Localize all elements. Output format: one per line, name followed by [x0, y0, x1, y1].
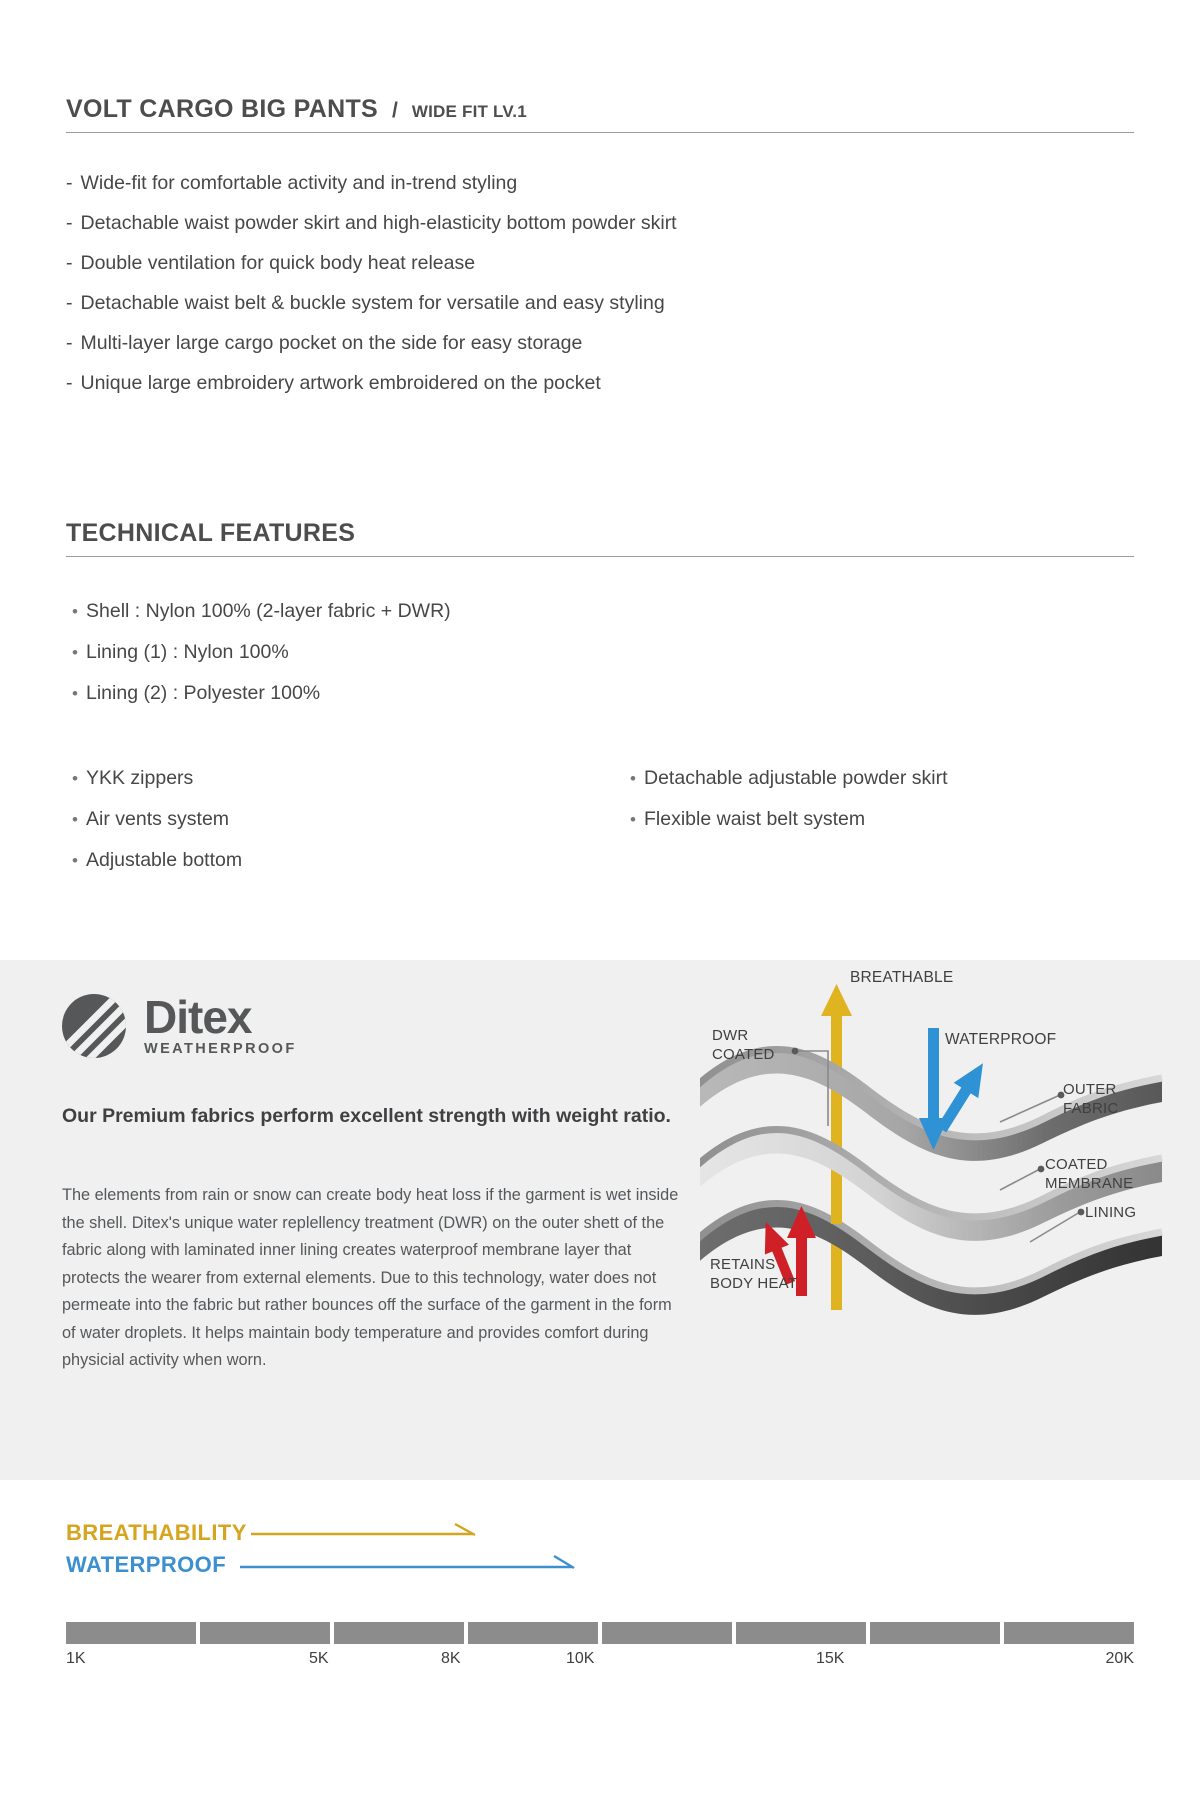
list-item: -Detachable waist belt & buckle system f…	[66, 283, 677, 323]
bullet-dot: •	[72, 800, 86, 840]
list-item: •Flexible waist belt system	[630, 799, 948, 840]
bullet-dot: •	[72, 759, 86, 799]
tick-label: 5K	[309, 1650, 329, 1668]
dash-bullet: -	[66, 212, 73, 234]
tech-feature-text: Air vents system	[86, 808, 229, 830]
ditex-logo: Ditex WEATHERPROOF	[62, 994, 297, 1058]
label-dwr-coated: DWR COATED	[712, 1026, 775, 1064]
product-feature-list: -Wide-fit for comfortable activity and i…	[66, 163, 677, 403]
feature-text: Detachable waist powder skirt and high-e…	[81, 212, 677, 234]
breathability-label: BREATHABILITY	[66, 1520, 247, 1546]
scale-bar	[66, 1622, 1134, 1644]
bullet-dot: •	[630, 759, 644, 799]
ditex-brand-name: Ditex	[144, 995, 297, 1039]
page-title: VOLT CARGO BIG PANTS	[66, 95, 378, 124]
scale-segment	[1004, 1622, 1134, 1644]
scale-tick-labels: 1K 5K 8K 10K 15K 20K	[66, 1650, 1134, 1674]
scale-segment	[870, 1622, 1000, 1644]
bullet-dot: •	[72, 841, 86, 881]
tech-features-right-column: •Detachable adjustable powder skirt •Fle…	[630, 758, 948, 840]
tick-label: 10K	[566, 1650, 594, 1668]
feature-text: Detachable waist belt & buckle system fo…	[81, 292, 665, 314]
dash-bullet: -	[66, 332, 73, 354]
ditex-panel: Ditex WEATHERPROOF Our Premium fabrics p…	[0, 960, 1200, 1480]
list-item: •Adjustable bottom	[72, 840, 242, 881]
feature-text: Wide-fit for comfortable activity and in…	[81, 172, 518, 194]
tech-feature-text: Detachable adjustable powder skirt	[644, 767, 948, 789]
tech-feature-text: YKK zippers	[86, 767, 193, 789]
ditex-body-text: The elements from rain or snow can creat…	[62, 1182, 687, 1375]
list-item: •Air vents system	[72, 799, 242, 840]
materials-list: •Shell : Nylon 100% (2-layer fabric + DW…	[72, 591, 451, 714]
feature-text: Multi-layer large cargo pocket on the si…	[81, 332, 583, 354]
product-title-header: VOLT CARGO BIG PANTS / WIDE FIT LV.1	[66, 95, 1134, 133]
title-separator: /	[392, 99, 398, 123]
scale-segment	[334, 1622, 464, 1644]
label-waterproof: WATERPROOF	[945, 1030, 1056, 1049]
scale-segment	[736, 1622, 866, 1644]
waterproof-arrow-icon	[240, 1554, 620, 1576]
fabric-layer-diagram: BREATHABLE WATERPROOF DWR COATED RETAINS…	[700, 950, 1170, 1370]
ditex-tagline: WEATHERPROOF	[144, 1041, 297, 1057]
bullet-dot: •	[72, 592, 86, 632]
list-item: •Shell : Nylon 100% (2-layer fabric + DW…	[72, 591, 451, 632]
scale-segment	[468, 1622, 598, 1644]
technical-features-title: TECHNICAL FEATURES	[66, 519, 355, 548]
list-item: •Detachable adjustable powder skirt	[630, 758, 948, 799]
dash-bullet: -	[66, 172, 73, 194]
tick-label: 1K	[66, 1650, 86, 1668]
label-breathable: BREATHABLE	[850, 968, 953, 987]
tech-feature-text: Adjustable bottom	[86, 849, 242, 871]
dash-bullet: -	[66, 372, 73, 394]
scale-segment	[602, 1622, 732, 1644]
breathability-arrow-icon	[251, 1522, 511, 1544]
list-item: -Unique large embroidery artwork embroid…	[66, 363, 677, 403]
label-lining: LINING	[1085, 1203, 1136, 1222]
breathability-row: BREATHABILITY	[66, 1520, 511, 1546]
label-coated-membrane: COATED MEMBRANE	[1045, 1155, 1133, 1193]
list-item: •YKK zippers	[72, 758, 242, 799]
material-text: Shell : Nylon 100% (2-layer fabric + DWR…	[86, 600, 451, 622]
material-text: Lining (1) : Nylon 100%	[86, 641, 289, 663]
dash-bullet: -	[66, 292, 73, 314]
product-spec-page: VOLT CARGO BIG PANTS / WIDE FIT LV.1 -Wi…	[0, 0, 1200, 1800]
tech-feature-text: Flexible waist belt system	[644, 808, 865, 830]
label-outer-fabric: OUTER FABRIC	[1063, 1080, 1118, 1118]
list-item: -Multi-layer large cargo pocket on the s…	[66, 323, 677, 363]
tick-label: 15K	[816, 1650, 844, 1668]
label-retains-body-heat: RETAINS BODY HEAT	[710, 1255, 797, 1293]
bullet-dot: •	[630, 800, 644, 840]
waterproof-row: WATERPROOF	[66, 1552, 620, 1578]
bullet-dot: •	[72, 633, 86, 673]
feature-text: Double ventilation for quick body heat r…	[81, 252, 476, 274]
breathable-arrow-overlay	[831, 1100, 842, 1310]
dash-bullet: -	[66, 252, 73, 274]
list-item: -Wide-fit for comfortable activity and i…	[66, 163, 677, 203]
list-item: -Double ventilation for quick body heat …	[66, 243, 677, 283]
scale-segment	[200, 1622, 330, 1644]
list-item: •Lining (1) : Nylon 100%	[72, 632, 451, 673]
bullet-dot: •	[72, 674, 86, 714]
material-text: Lining (2) : Polyester 100%	[86, 682, 320, 704]
list-item: -Detachable waist powder skirt and high-…	[66, 203, 677, 243]
feature-text: Unique large embroidery artwork embroide…	[81, 372, 601, 394]
tech-features-left-column: •YKK zippers •Air vents system •Adjustab…	[72, 758, 242, 881]
technical-features-header: TECHNICAL FEATURES	[66, 519, 1134, 557]
tick-label: 20K	[1106, 1650, 1134, 1668]
list-item: •Lining (2) : Polyester 100%	[72, 673, 451, 714]
waterproof-label: WATERPROOF	[66, 1552, 226, 1578]
scale-segment	[66, 1622, 196, 1644]
ditex-mark-icon	[62, 994, 126, 1058]
ditex-wordmark: Ditex WEATHERPROOF	[144, 995, 297, 1057]
tick-label: 8K	[441, 1650, 461, 1668]
fit-subtitle: WIDE FIT LV.1	[412, 102, 527, 122]
ditex-lead-text: Our Premium fabrics perform excellent st…	[62, 1102, 682, 1131]
